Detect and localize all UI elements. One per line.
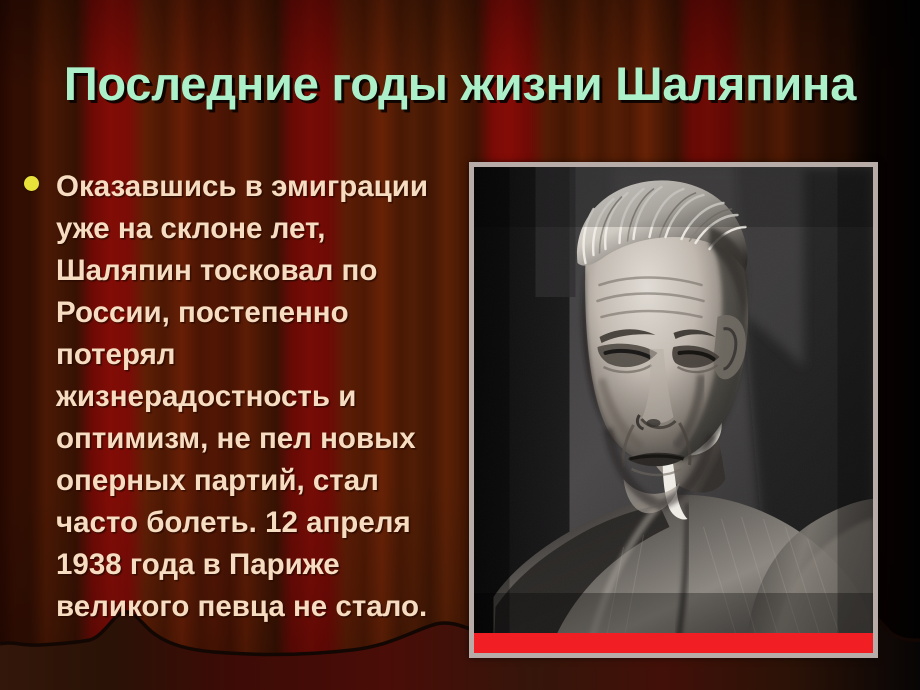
bullet-list: Оказавшись в эмиграции уже на склоне лет… [24, 166, 454, 628]
presentation-slide: Последние годы жизни Шаляпина Оказавшись… [0, 0, 920, 690]
portrait-photo-image [474, 167, 873, 653]
portrait-photo [474, 167, 873, 653]
bullet-dot-icon [24, 176, 39, 191]
bullet-item-text: Оказавшись в эмиграции уже на склоне лет… [56, 166, 454, 628]
slide-title: Последние годы жизни Шаляпина [0, 56, 920, 111]
portrait-photo-frame [469, 162, 878, 658]
photo-accent-bar [474, 633, 873, 653]
